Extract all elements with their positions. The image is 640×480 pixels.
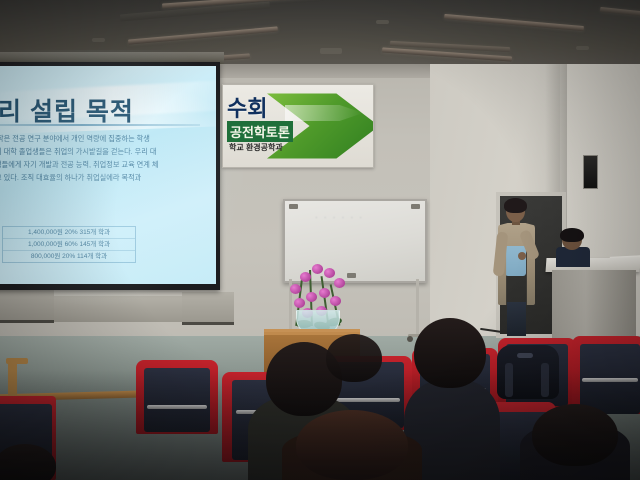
- slide-body-line: 계로 운영하고 있다. 조직 대효율의 하나가 취업실에라 목적과: [0, 171, 210, 184]
- backpack: [497, 345, 559, 399]
- seat-cushion: [144, 368, 210, 432]
- orchid-bloom: [294, 298, 305, 308]
- wall-banner: 수회 공전학토론 학교 환경공학과: [222, 84, 374, 168]
- assistant-hair: [560, 228, 584, 242]
- orchid-bloom: [319, 288, 330, 298]
- ceiling-vent: [320, 48, 342, 54]
- whiteboard-clip: [289, 204, 298, 209]
- seat-bar: [330, 398, 400, 402]
- whiteboard-writing: · · · · · ·: [315, 213, 364, 222]
- seat-row-post: [8, 360, 17, 396]
- banner-department: 학교 환경공학과: [229, 142, 283, 153]
- lecture-hall-photo: 동아리 설립 목적 현재 우리 대학은 전공 연구 분야에서 개인 역량에 집중…: [0, 0, 640, 480]
- whiteboard-caster: [407, 336, 413, 342]
- seat-row-armrest: [6, 358, 28, 364]
- orchid-bloom: [330, 296, 341, 306]
- slide-table-row: 1,400,000원 20% 315개 학과: [3, 227, 135, 239]
- slide-body-line: 현재 우리 대학은 전공 연구 분야에서 개인 역량에 집중하는 학생: [0, 132, 210, 145]
- presenter: [497, 200, 537, 336]
- seat-bar: [582, 378, 638, 382]
- slide-body-line: 들이 대부분의 대학 졸업생들은 취업의 가시밭길을 걷는다. 우리 대: [0, 145, 210, 158]
- slide-title: 동아리 설립 목적: [0, 92, 200, 128]
- ceiling-vent: [92, 38, 105, 42]
- whiteboard-clip: [411, 204, 420, 209]
- whiteboard-tray: [347, 273, 356, 278]
- audience-head: [532, 404, 618, 466]
- orchid-bloom: [290, 284, 301, 294]
- slide-table-row: 800,000원 20% 114개 학과: [3, 251, 135, 262]
- slide-body-line: 학에도 졸업생들에게 자기 개발과 전공 능력, 취업정보 교육 연계 체: [0, 158, 210, 171]
- wall-speaker: [583, 155, 598, 189]
- projection-screen: 동아리 설립 목적 현재 우리 대학은 전공 연구 분야에서 개인 역량에 집중…: [0, 66, 216, 284]
- whiteboard-leg: [416, 279, 419, 335]
- audience-head: [326, 334, 382, 382]
- presenter-hair: [504, 198, 527, 213]
- slide-title-rule: [0, 124, 200, 126]
- banner-title: 수회: [227, 91, 267, 123]
- orchid-bloom: [300, 272, 311, 282]
- slide-table-row: 1,000,000원 60% 145개 학과: [3, 239, 135, 251]
- wall-base-panel: [0, 290, 54, 323]
- banner-subtitle: 공전학토론: [227, 121, 293, 142]
- backpack-logo: [517, 353, 533, 358]
- backpack-strap: [541, 363, 549, 397]
- seated-assistant: [556, 228, 590, 264]
- slide-body-text: 현재 우리 대학은 전공 연구 분야에서 개인 역량에 집중하는 학생 들이 대…: [0, 132, 210, 184]
- assistant-body: [556, 247, 590, 267]
- orchid-bloom: [312, 264, 323, 274]
- presenter-hand: [518, 252, 526, 260]
- backpack-strap: [505, 363, 513, 397]
- seat-bar: [147, 405, 207, 409]
- slide-table: 1,400,000원 20% 315개 학과 1,000,000원 60% 14…: [2, 226, 136, 263]
- audience-head: [414, 318, 486, 388]
- orchid-bloom: [324, 268, 335, 278]
- wall-base-panel: [54, 296, 182, 322]
- wall-base-panel: [182, 292, 234, 325]
- orchid-bloom: [334, 278, 345, 288]
- presenter-legs: [507, 302, 526, 336]
- orchid-bloom: [306, 292, 317, 302]
- audience-head: [296, 410, 408, 480]
- ceiling-vent: [376, 20, 389, 24]
- ceiling-vent: [576, 46, 589, 50]
